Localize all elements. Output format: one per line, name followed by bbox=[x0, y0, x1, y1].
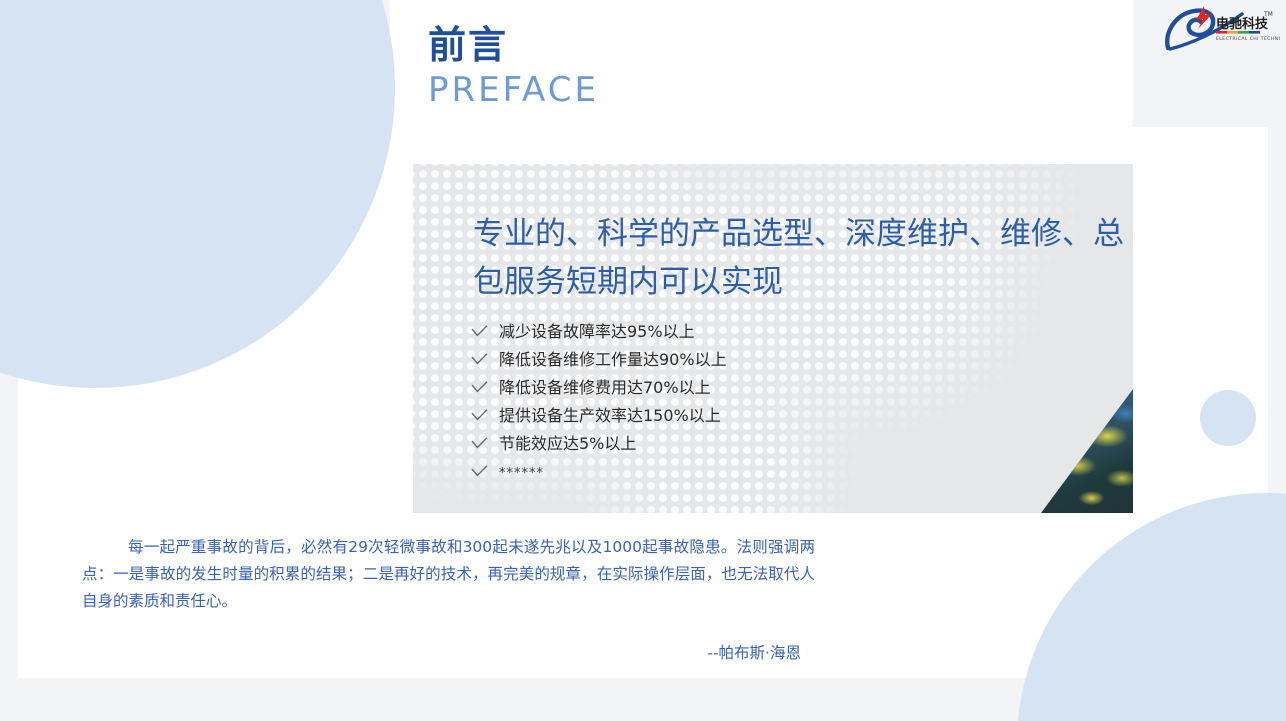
band-top-left bbox=[0, 0, 390, 127]
decorative-circle-small-right bbox=[1200, 390, 1256, 446]
logo-trademark: TM bbox=[1263, 11, 1273, 18]
quote-card: 每一起严重事故的背后，必然有29次轻微事故和300起未遂先兆以及1000起事故隐… bbox=[70, 513, 823, 678]
content-panel: 专业的、科学的产品选型、深度维护、维修、总包服务短期内可以实现 减少设备故障率达… bbox=[413, 164, 1133, 513]
list-item-label: 节能效应达5%以上 bbox=[499, 430, 636, 458]
list-item: 降低设备维修费用达70%以上 bbox=[471, 373, 971, 401]
list-item-label: 降低设备维修费用达70%以上 bbox=[499, 374, 711, 402]
list-item-label: 降低设备维修工作量达90%以上 bbox=[499, 346, 727, 374]
list-item: 降低设备维修工作量达90%以上 bbox=[471, 345, 971, 373]
decorative-circle-small-left bbox=[60, 281, 137, 358]
decorative-circle-top-left bbox=[0, 0, 395, 388]
list-item-label: 减少设备故障率达95%以上 bbox=[499, 318, 695, 346]
list-item: 节能效应达5%以上 bbox=[471, 429, 971, 457]
company-logo[interactable]: 电驰科技 ELECTRICAL CHI TECHNOLOGY TM bbox=[1160, 2, 1280, 56]
check-icon bbox=[471, 345, 499, 365]
page-title-cn: 前言 bbox=[428, 25, 508, 67]
logo-brand-en: ELECTRICAL CHI TECHNOLOGY bbox=[1216, 36, 1280, 42]
list-item: 减少设备故障率达95%以上 bbox=[471, 317, 971, 345]
check-icon bbox=[471, 373, 499, 393]
list-item: 提供设备生产效率达150%以上 bbox=[471, 401, 971, 429]
list-item-label: ****** bbox=[499, 460, 544, 488]
check-icon bbox=[471, 401, 499, 421]
check-icon bbox=[471, 317, 499, 337]
slide-canvas: 前言 PREFACE 电驰科技 ELECTRICAL CHI TECHNOLOG… bbox=[0, 0, 1286, 721]
band-bottom bbox=[0, 678, 1286, 721]
benefits-list: 减少设备故障率达95%以上 降低设备维修工作量达90%以上 降低设备维修费用达7… bbox=[471, 317, 971, 485]
band-right-strip bbox=[1268, 127, 1286, 678]
check-icon bbox=[471, 429, 499, 449]
page-title-en: PREFACE bbox=[428, 72, 599, 109]
logo-brand-cn: 电驰科技 bbox=[1216, 16, 1269, 32]
quote-text: 每一起严重事故的背后，必然有29次轻微事故和300起未遂先兆以及1000起事故隐… bbox=[82, 534, 815, 615]
list-item: ****** bbox=[471, 457, 971, 485]
quote-attribution: --帕布斯·海恩 bbox=[70, 641, 801, 663]
band-left-strip bbox=[0, 127, 18, 678]
list-item-label: 提供设备生产效率达150%以上 bbox=[499, 402, 721, 430]
decorative-circle-bottom-right bbox=[1017, 493, 1286, 721]
check-icon bbox=[471, 457, 499, 477]
panel-heading: 专业的、科学的产品选型、深度维护、维修、总包服务短期内可以实现 bbox=[473, 210, 1133, 307]
logo-mark-icon: 电驰科技 ELECTRICAL CHI TECHNOLOGY TM bbox=[1160, 2, 1280, 56]
